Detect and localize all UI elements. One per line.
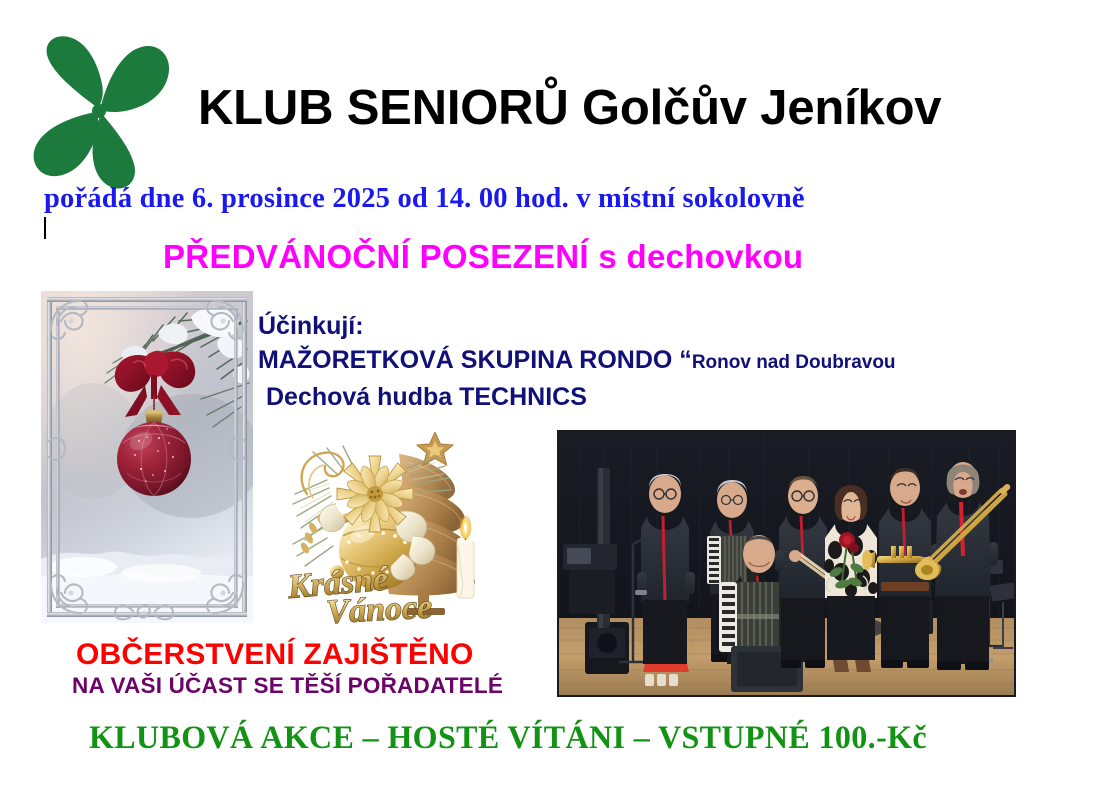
performer-majorettes: MAŽORETKOVÁ SKUPINA RONDO “Ronov nad Dou… bbox=[258, 343, 896, 379]
event-date-line: pořádá dne 6. prosince 2025 od 14. 00 ho… bbox=[44, 183, 1084, 215]
performer-majorettes-name: MAŽORETKOVÁ SKUPINA RONDO “ bbox=[258, 346, 692, 374]
poster-page: KLUB SENIORŮ Golčův Jeníkov pořádá dne 6… bbox=[0, 0, 1116, 785]
christmas-bauble-photo bbox=[41, 291, 253, 623]
page-title: KLUB SENIORŮ Golčův Jeníkov bbox=[198, 83, 1078, 134]
performers-intro-label: Účinkují: bbox=[258, 310, 896, 343]
four-leaf-clover-icon bbox=[14, 32, 182, 194]
krasne-vanoce-line2: Vánoce bbox=[325, 589, 433, 628]
performer-majorettes-town: Ronov nad Doubravou bbox=[692, 352, 896, 373]
refreshments-note: OBČERSTVENÍ ZAJIŠTĚNO bbox=[76, 638, 474, 672]
text-cursor-caret bbox=[44, 217, 46, 239]
club-entry-line: KLUBOVÁ AKCE – HOSTÉ VÍTÁNI – VSTUPNÉ 10… bbox=[89, 720, 927, 757]
thanks-note: NA VAŠI ÚČAST SE TĚŠÍ POŘADATELÉ bbox=[72, 673, 503, 699]
technics-band-photo bbox=[557, 430, 1016, 697]
performers-block: Účinkují: MAŽORETKOVÁ SKUPINA RONDO “Ron… bbox=[258, 310, 896, 415]
event-heading: PŘEDVÁNOČNÍ POSEZENÍ s dechovkou bbox=[163, 238, 1023, 276]
performer-brass-band: Dechová hudba TECHNICS bbox=[258, 379, 896, 415]
krasne-vanoce-graphic: Krásné Vánoce bbox=[279, 432, 501, 628]
